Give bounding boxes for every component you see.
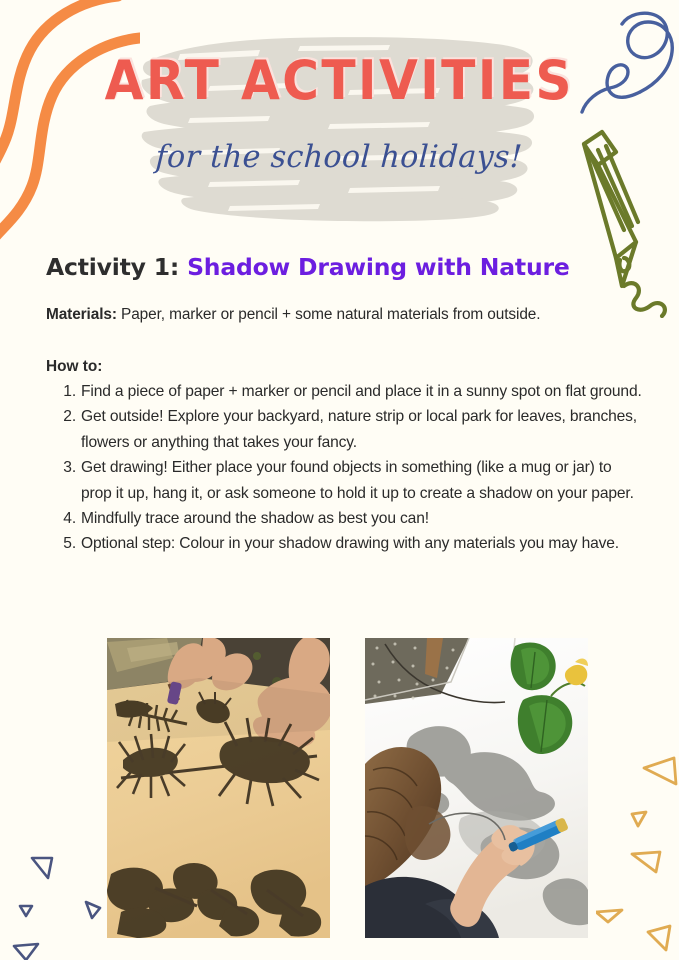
steps-list: Find a piece of paper + marker or pencil… [46, 379, 646, 557]
materials-line: Materials: Paper, marker or pencil + som… [46, 304, 540, 326]
subtitle-container: for the school holidays! [0, 138, 679, 176]
page-title: ART ACTIVITIES [105, 52, 574, 110]
poster-canvas: ART ACTIVITIES for the school holidays! … [0, 0, 679, 960]
page-subtitle: for the school holidays! [155, 138, 524, 176]
howto-label: How to: [46, 356, 102, 378]
activity-title: Shadow Drawing with Nature [187, 253, 570, 281]
gold-triangles-decoration [596, 730, 679, 960]
list-item: Find a piece of paper + marker or pencil… [46, 379, 646, 404]
navy-triangles-decoration [0, 818, 104, 960]
materials-label: Materials: [46, 306, 117, 323]
title-container: ART ACTIVITIES [0, 52, 679, 110]
materials-text: Paper, marker or pencil + some natural m… [121, 306, 540, 323]
list-item: Optional step: Colour in your shadow dra… [46, 531, 646, 556]
photo-child-tracing-leaf-shadow [365, 638, 588, 938]
activity-heading: Activity 1: Shadow Drawing with Nature [46, 252, 570, 282]
list-item: Mindfully trace around the shadow as bes… [46, 506, 646, 531]
photo-shadow-drawing-outdoors [107, 638, 330, 938]
list-item: Get drawing! Either place your found obj… [46, 455, 646, 506]
list-item: Get outside! Explore your backyard, natu… [46, 404, 646, 455]
activity-number-label: Activity 1: [46, 253, 179, 281]
